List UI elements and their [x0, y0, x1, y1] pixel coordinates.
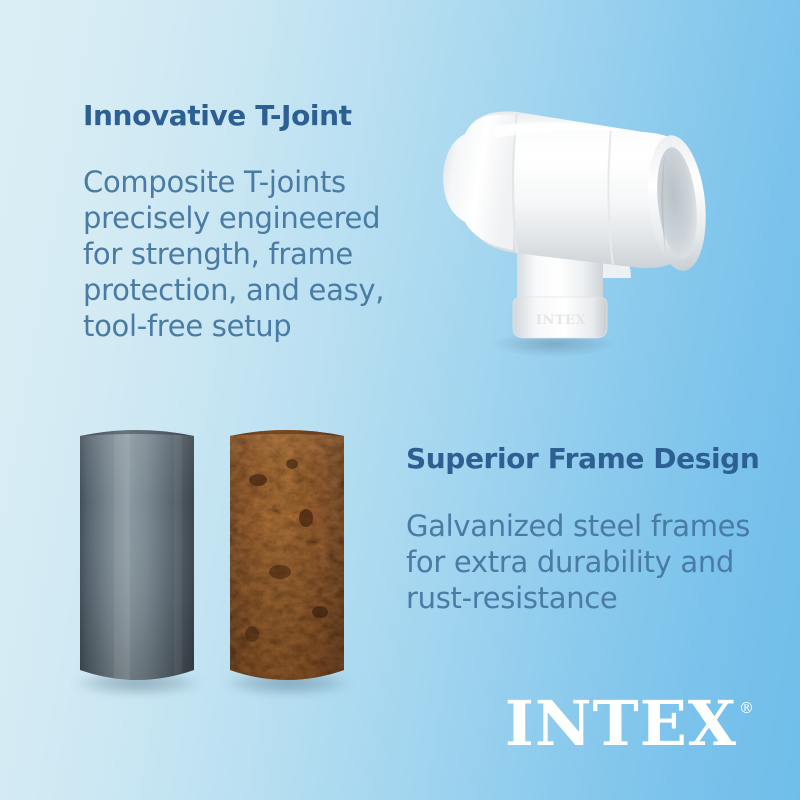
feature-block-t-joint: Innovative T-Joint Composite T-joints pr… — [83, 101, 384, 344]
galvanized-pipe — [78, 422, 196, 688]
feature-heading-t-joint: Innovative T-Joint — [83, 101, 384, 132]
intex-wordmark: INTEX — [505, 695, 737, 754]
body-line: Galvanized steel frames — [406, 508, 759, 544]
body-line: protection, and easy, — [83, 272, 384, 308]
feature-block-frame-design: Superior Frame Design Galvanized steel f… — [406, 444, 759, 616]
body-line: precisely engineered — [83, 200, 384, 236]
rusted-pipe — [228, 422, 346, 688]
body-line: tool-free setup — [83, 308, 384, 344]
t-joint-product-image: INTEX — [425, 72, 725, 362]
pipe-comparison-image — [70, 412, 350, 702]
body-line: Composite T-joints — [83, 164, 384, 200]
t-joint-embossed-text: INTEX — [536, 313, 587, 328]
intex-logo: INTEX ® — [505, 695, 754, 754]
registered-trademark-icon: ® — [739, 701, 754, 716]
feature-body-t-joint: Composite T-joints precisely engineered … — [83, 164, 384, 344]
feature-body-frame-design: Galvanized steel frames for extra durabi… — [406, 508, 759, 616]
body-line: for extra durability and — [406, 544, 759, 580]
body-line: rust-resistance — [406, 580, 759, 616]
feature-graphic-canvas: Innovative T-Joint Composite T-joints pr… — [0, 0, 800, 800]
feature-heading-frame-design: Superior Frame Design — [406, 444, 759, 475]
body-line: for strength, frame — [83, 236, 384, 272]
